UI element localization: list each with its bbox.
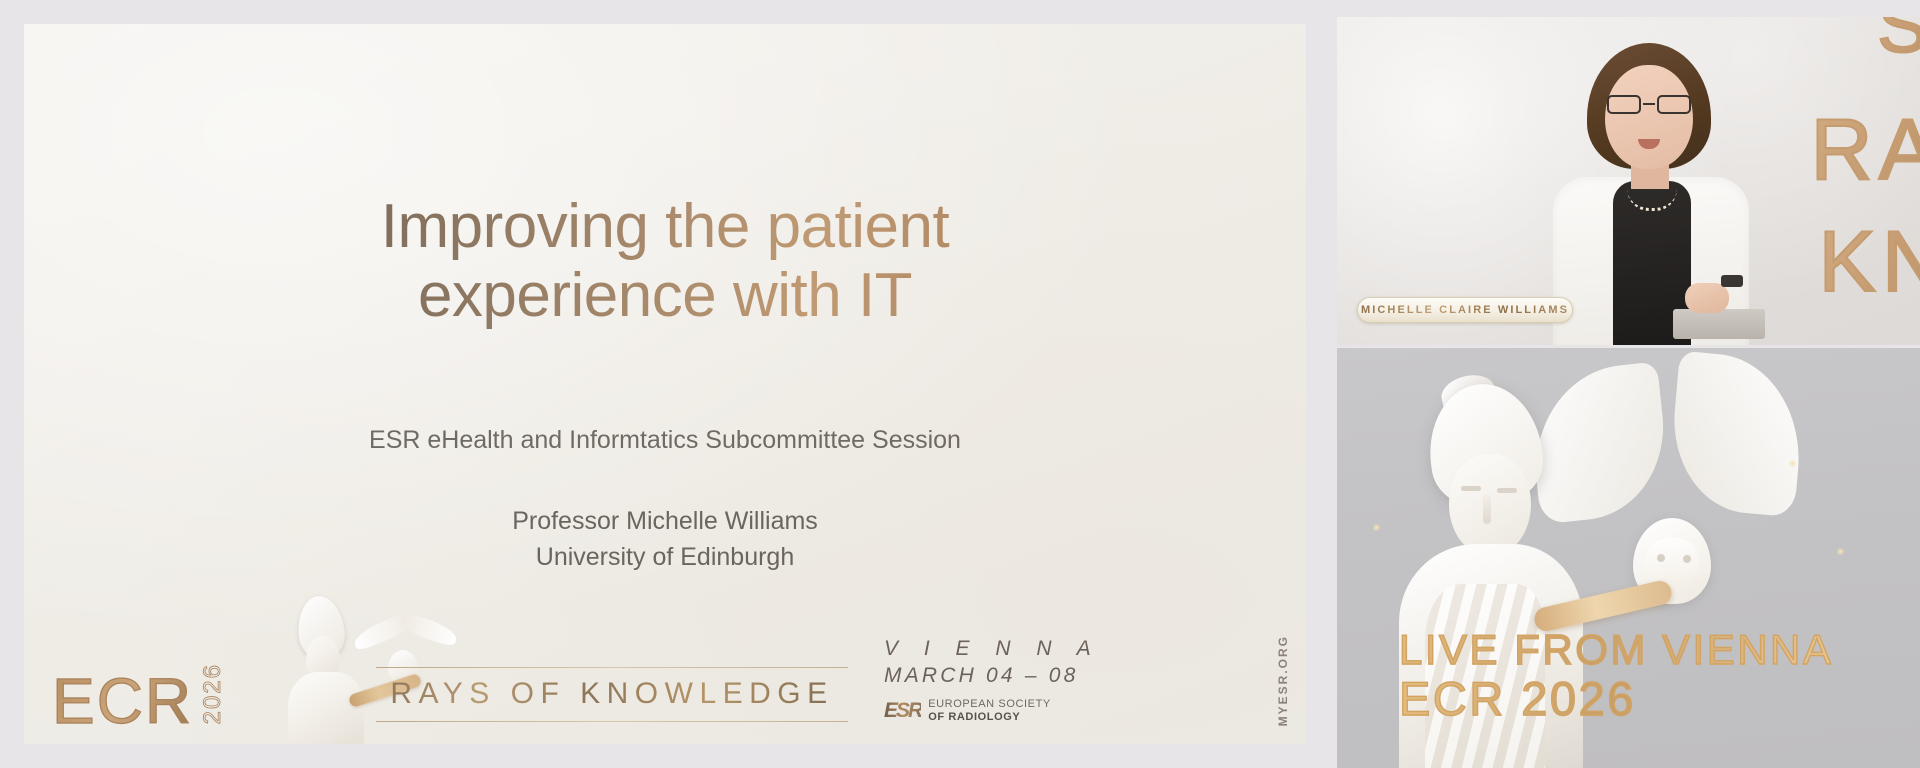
esr-mark: ESR [884, 699, 921, 723]
owl-wing-right [1666, 351, 1807, 518]
sparkle-3 [1373, 524, 1380, 531]
speaker-name-badge: MICHELLE CLAIRE WILLIAMS [1357, 297, 1573, 323]
glasses-icon [1605, 95, 1693, 114]
venue-city: V I E N N A [884, 637, 1199, 661]
sparkle-2 [1837, 548, 1844, 555]
athena-nose [1483, 494, 1491, 524]
athena-eye-right [1497, 488, 1517, 493]
esr-org-line1: EUROPEAN SOCIETY [928, 698, 1051, 710]
speaker-figure [1535, 43, 1765, 345]
presentation-slide[interactable]: Improving the patient experience with IT… [24, 24, 1306, 744]
ecr-2026-text: ECR 2026 [1399, 674, 1833, 724]
ecr-year: 2026 [199, 663, 227, 724]
slide-presenter: Professor Michelle Williams University o… [24, 504, 1306, 575]
sparkle-1 [1789, 460, 1796, 467]
wristwatch-icon [1721, 275, 1743, 287]
speaker-video-feed[interactable]: S RA KN MICHELLE CLAIRE WILLIAMS [1337, 17, 1920, 345]
backdrop-letters-line3: KN [1819, 213, 1920, 312]
owl-face [1645, 538, 1699, 588]
live-overlay: LIVE FROM VIENNA ECR 2026 [1399, 629, 1833, 724]
tagline-block: RAYS OF KNOWLEDGE [376, 667, 848, 722]
backdrop-letters-line2: RA [1811, 101, 1920, 200]
venue-dates: MARCH 04 – 08 [884, 664, 1199, 688]
slide-footer: ECR 2026 RAYS OF KNOWLEDGE V I E N N A M… [24, 604, 1306, 744]
owl-eye-right [1683, 555, 1691, 563]
slide-title: Improving the patient experience with IT [24, 192, 1306, 331]
speaker-face [1605, 65, 1693, 169]
speaker-name-label: MICHELLE CLAIRE WILLIAMS [1361, 304, 1569, 316]
athena-eye-left [1461, 486, 1481, 491]
stage-video-feed[interactable]: LIVE FROM VIENNA ECR 2026 [1337, 348, 1920, 768]
screen-root: Improving the patient experience with IT… [0, 0, 1920, 768]
ecr-wordmark: ECR [52, 674, 193, 728]
owl-wing-left [1526, 362, 1673, 525]
website-url: MYESR.ORG [1276, 635, 1290, 726]
backdrop-letters-line1: S [1877, 17, 1920, 70]
ecr-logo: ECR 2026 [52, 663, 227, 728]
lectern [1673, 309, 1765, 339]
speaker-hand [1685, 283, 1729, 313]
tagline-rule-bottom [376, 721, 848, 722]
owl-eye-left [1657, 554, 1665, 562]
live-from-vienna-text: LIVE FROM VIENNA [1399, 629, 1833, 672]
tagline-text: RAYS OF KNOWLEDGE [376, 668, 848, 721]
esr-org-name: EUROPEAN SOCIETY OF RADIOLOGY [928, 698, 1051, 724]
esr-logo: ESR EUROPEAN SOCIETY OF RADIOLOGY [884, 698, 1199, 724]
venue-block: V I E N N A MARCH 04 – 08 ESR EUROPEAN S… [884, 637, 1199, 724]
esr-org-line2: OF RADIOLOGY [928, 711, 1020, 723]
slide-subtitle: ESR eHealth and Informtatics Subcommitte… [24, 426, 1306, 455]
